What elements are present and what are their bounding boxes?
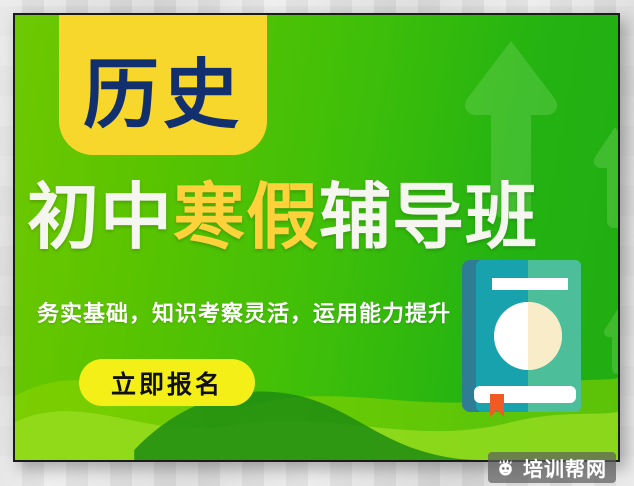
headline-part-2: 寒假 <box>173 175 319 259</box>
subtitle: 务实基础，知识考察灵活，运用能力提升 <box>37 296 451 328</box>
sun-face-logo-icon <box>495 457 516 478</box>
subject-badge-label: 历史 <box>83 57 243 155</box>
headline-part-1: 初中 <box>27 175 173 259</box>
watermark: 培训帮网 <box>488 452 616 483</box>
promo-banner: 历史 初中寒假辅导班 务实基础，知识考察灵活，运用能力提升 立即报名 <box>13 13 620 462</box>
watermark-text: 培训帮网 <box>523 453 607 482</box>
open-book-icon <box>462 260 593 417</box>
page-backdrop: 历史 初中寒假辅导班 务实基础，知识考察灵活，运用能力提升 立即报名 <box>0 0 634 486</box>
subject-badge: 历史 <box>59 13 267 155</box>
headline: 初中寒假辅导班 <box>27 181 613 253</box>
enroll-now-button[interactable]: 立即报名 <box>79 359 255 406</box>
headline-part-3: 辅导班 <box>319 175 538 259</box>
